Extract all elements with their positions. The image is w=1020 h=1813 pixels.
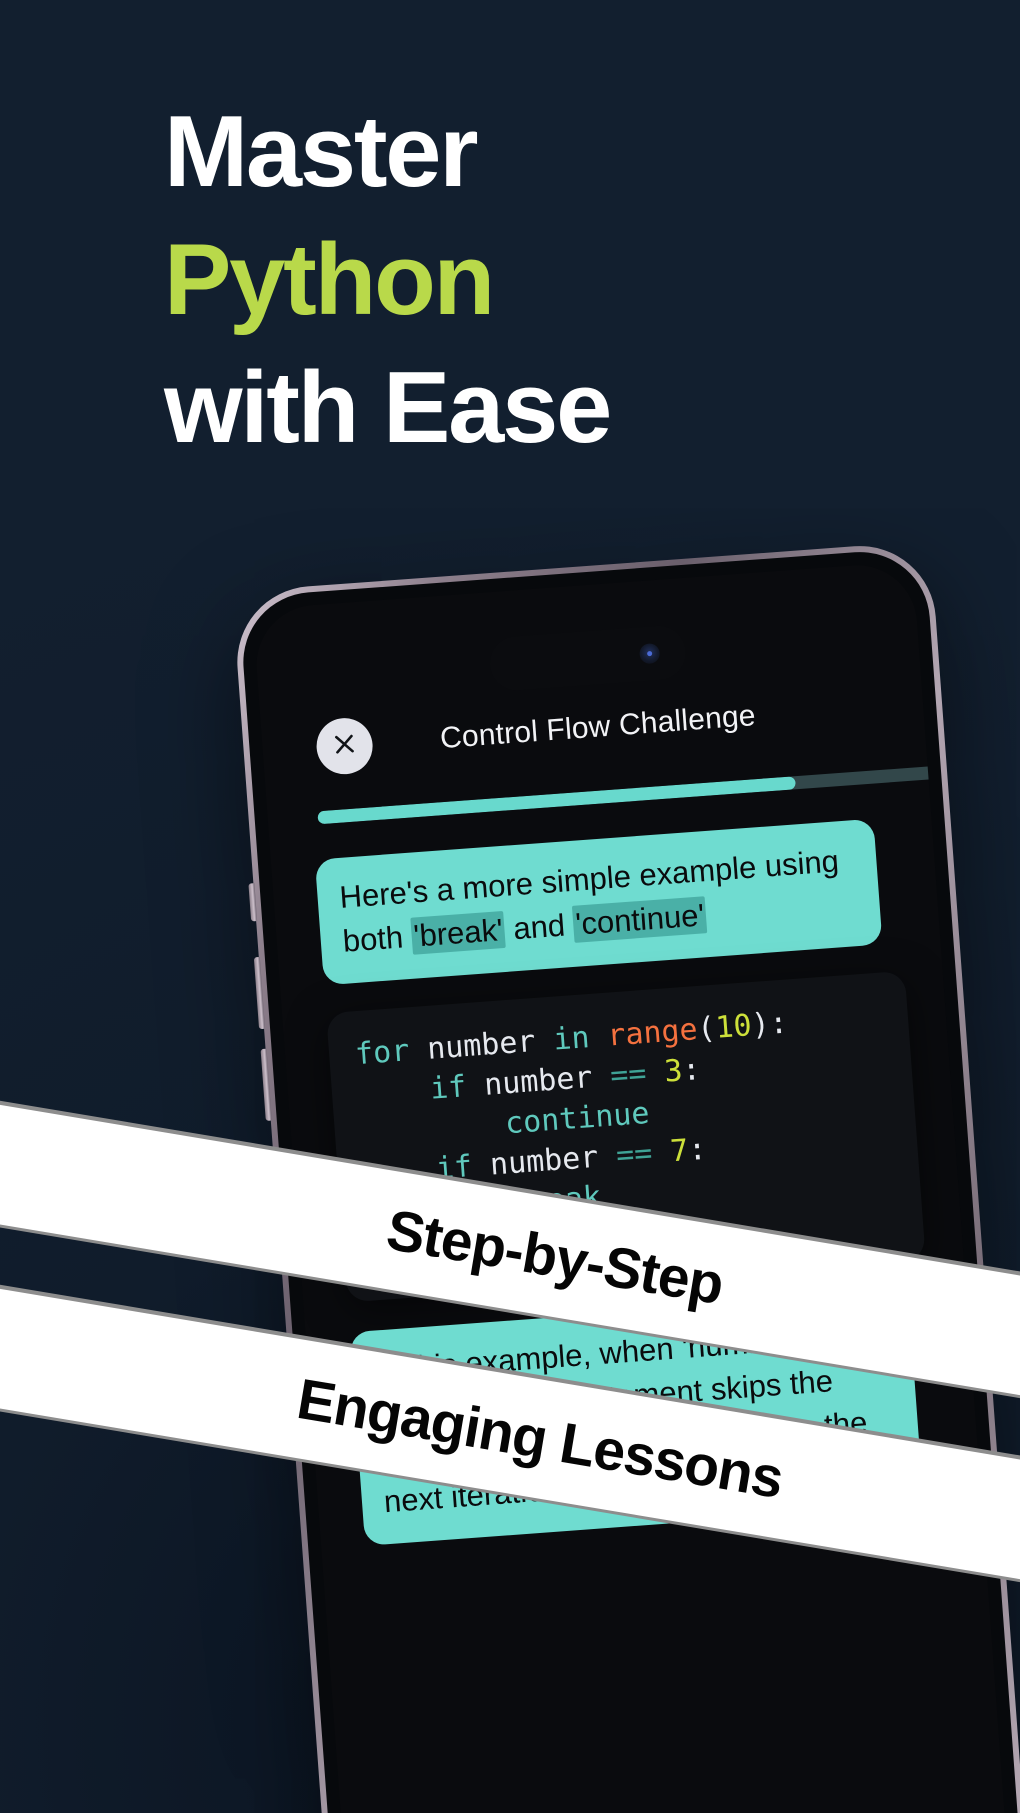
lesson-progress-fill (317, 776, 796, 824)
page-title: Master Python with Ease (164, 88, 924, 472)
inline-code-continue: 'continue' (572, 896, 707, 943)
front-camera-icon (639, 643, 660, 664)
close-button[interactable] (315, 716, 375, 776)
headline-line-1: Master (164, 88, 924, 216)
assistant-message-bubble: Here's a more simple example using both … (315, 819, 883, 986)
inline-code-break: 'break' (410, 911, 506, 955)
headline-line-3: with Ease (164, 344, 924, 472)
bubble-segment-text: and (504, 907, 575, 947)
lesson-progress-bar (317, 766, 938, 825)
dynamic-island (488, 624, 687, 692)
headline-line-2: Python (164, 216, 924, 344)
close-x-icon (330, 730, 358, 763)
app-header: Control Flow Challenge (260, 671, 925, 785)
